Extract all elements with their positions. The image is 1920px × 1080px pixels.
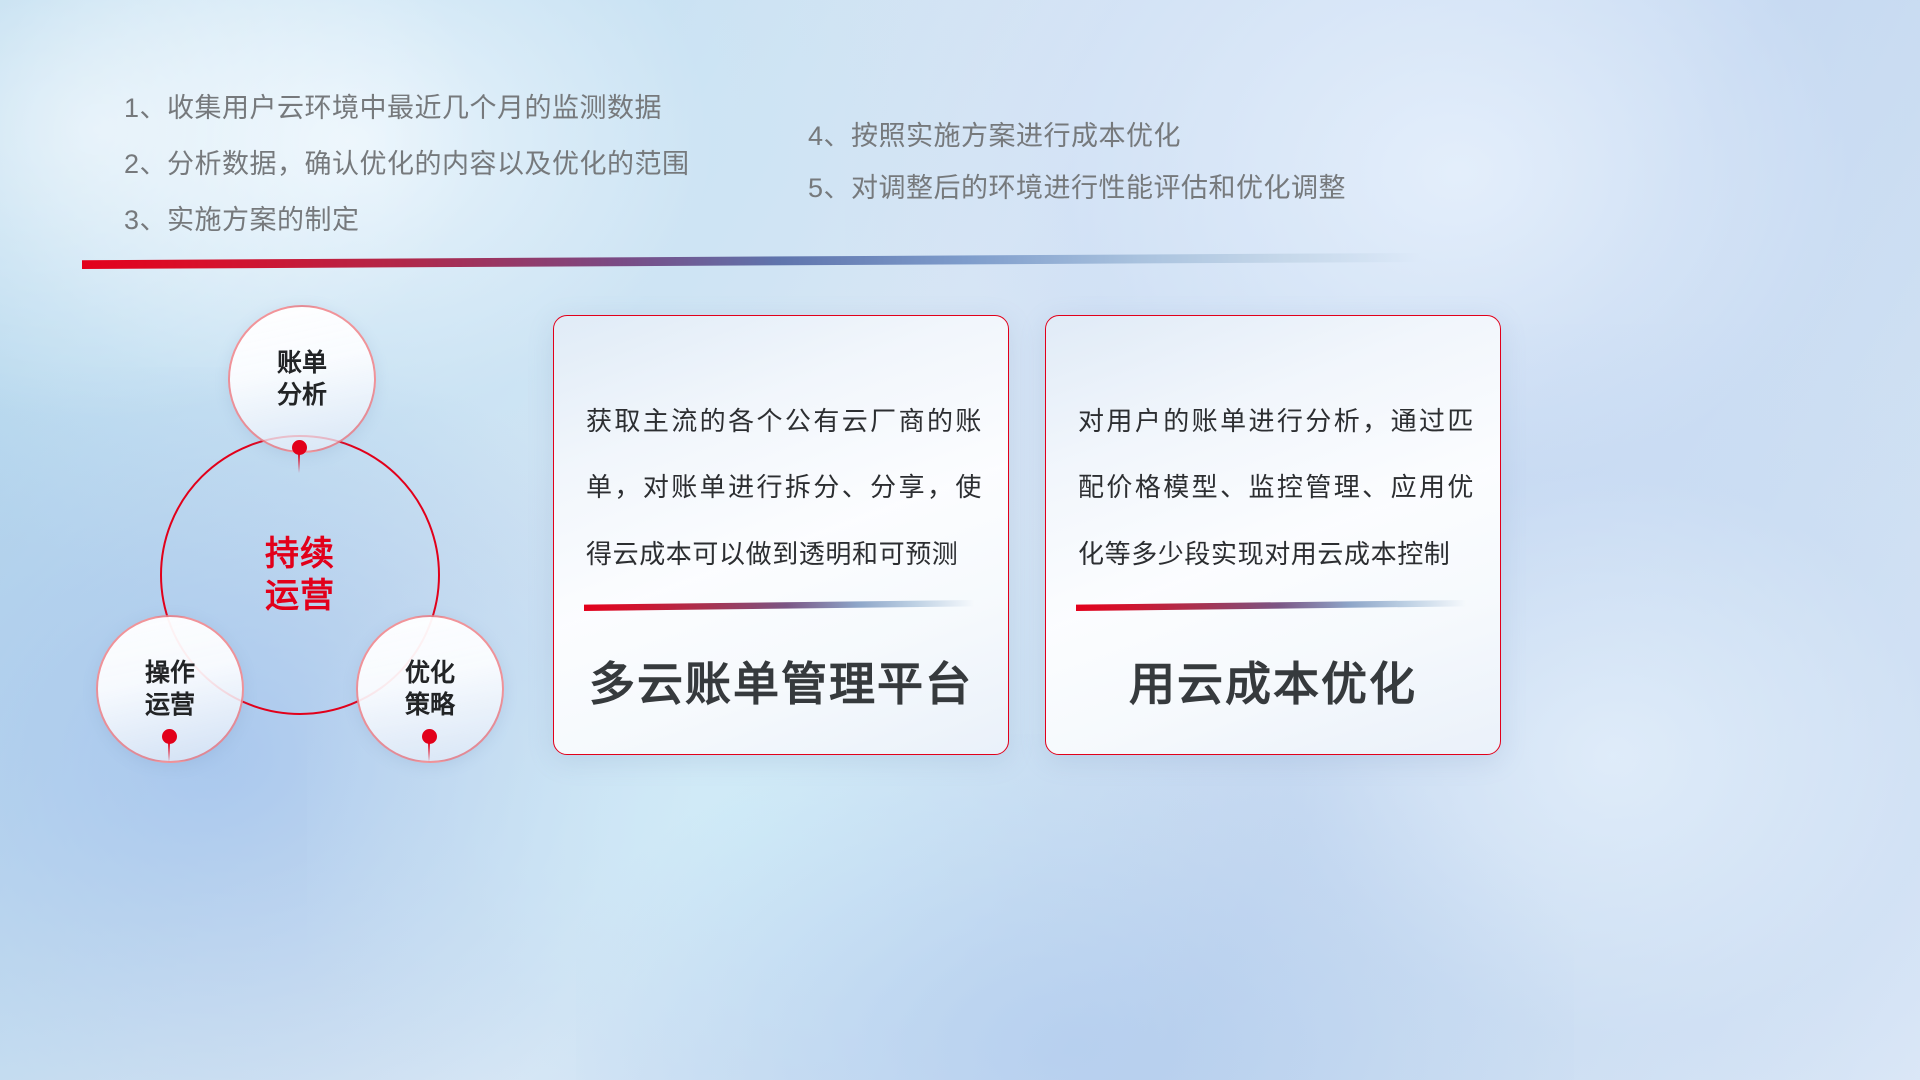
process-list-right: 4、按照实施方案进行成本优化 5、对调整后的环境进行性能评估和优化调整 bbox=[808, 123, 1346, 227]
process-list-item: 2、分析数据，确认优化的内容以及优化的范围 bbox=[124, 151, 690, 178]
connector-tail-bottom-right bbox=[428, 742, 430, 762]
card-title: 多云账单管理平台 bbox=[554, 648, 1008, 714]
card-body-text: 获取主流的各个公有云厂商的账单，对账单进行拆分、分享，使得云成本可以做到透明和可… bbox=[586, 388, 982, 587]
center-label-line-2: 运营 bbox=[265, 575, 335, 618]
process-list-item: 1、收集用户云环境中最近几个月的监测数据 bbox=[124, 95, 690, 122]
center-label-line-1: 持续 bbox=[265, 533, 335, 576]
card-accent-rule bbox=[584, 600, 974, 611]
divider-bar bbox=[82, 253, 1420, 269]
bubble-label-line-2: 策略 bbox=[405, 689, 455, 722]
section-divider bbox=[82, 253, 1420, 269]
card-multicloud-billing-platform[interactable]: 获取主流的各个公有云厂商的账单，对账单进行拆分、分享，使得云成本可以做到透明和可… bbox=[553, 315, 1009, 755]
card-title: 用云成本优化 bbox=[1046, 648, 1500, 714]
process-list-left: 1、收集用户云环境中最近几个月的监测数据 2、分析数据，确认优化的内容以及优化的… bbox=[124, 95, 690, 263]
connector-tail-top bbox=[298, 453, 300, 473]
process-list-item: 5、对调整后的环境进行性能评估和优化调整 bbox=[808, 175, 1346, 202]
process-list-item: 4、按照实施方案进行成本优化 bbox=[808, 123, 1346, 150]
bubble-bill-analysis[interactable]: 账单 分析 bbox=[228, 305, 376, 453]
bubble-label-line-2: 运营 bbox=[145, 689, 195, 722]
card-accent-rule bbox=[1076, 600, 1466, 611]
card-body-text: 对用户的账单进行分析，通过匹配价格模型、监控管理、应用优化等多少段实现对用云成本… bbox=[1078, 388, 1474, 587]
continuous-operation-diagram: 持续 运营 账单 分析 操作 运营 优化 策略 bbox=[88, 295, 548, 765]
connector-tail-bottom-left bbox=[168, 742, 170, 762]
bubble-label-line-1: 操作 bbox=[145, 657, 195, 690]
card-cloud-cost-optimization[interactable]: 对用户的账单进行分析，通过匹配价格模型、监控管理、应用优化等多少段实现对用云成本… bbox=[1045, 315, 1501, 755]
background-glow-bottom bbox=[576, 734, 1574, 1080]
bubble-label-line-1: 优化 bbox=[405, 657, 455, 690]
process-list-item: 3、实施方案的制定 bbox=[124, 207, 690, 234]
bubble-label-line-1: 账单 bbox=[277, 347, 327, 380]
bubble-label-line-2: 分析 bbox=[277, 379, 327, 412]
